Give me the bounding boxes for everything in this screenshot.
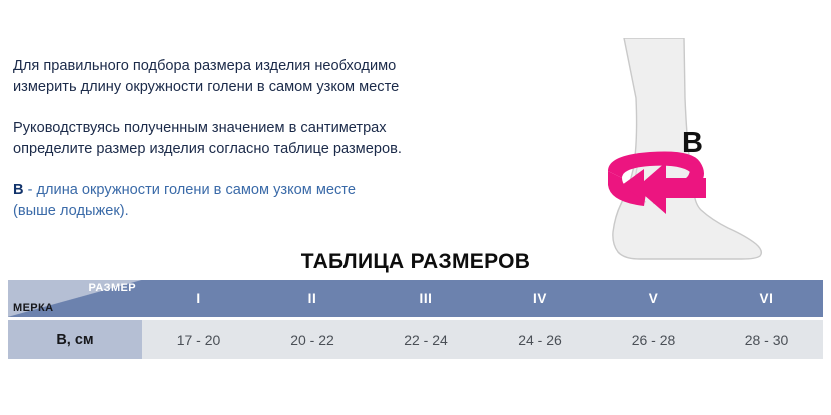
corner-size-label: РАЗМЕР [89,282,136,294]
instruction-paragraph-1-line-2: измерить длину окружности голени в самом… [13,77,533,98]
table-row: В, см 17 - 20 20 - 22 22 - 24 24 - 26 26… [8,320,823,359]
instructions-text-block: Для правильного подбора размера изделия … [13,56,533,222]
instruction-paragraph-2-line-2: определите размер изделия согласно табли… [13,139,533,160]
cell-size-iii-value: 22 - 24 [369,320,483,359]
measurement-label-b: B [682,129,703,158]
instruction-paragraph-2: Руководствуясь полученным значением в са… [13,118,533,160]
instruction-paragraph-1: Для правильного подбора размера изделия … [13,56,533,98]
size-table: РАЗМЕР МЕРКА I II III IV V VI В, см 17 -… [8,280,823,359]
size-chart-page: Для правильного подбора размера изделия … [0,0,831,415]
corner-measure-label: МЕРКА [13,302,54,314]
cell-size-vi-value: 28 - 30 [710,320,823,359]
size-table-header-row: РАЗМЕР МЕРКА I II III IV V VI [8,280,823,317]
row-label-circumference: В, см [8,320,142,359]
header-size-i: I [142,280,255,317]
instruction-paragraph-2-line-1: Руководствуясь полученным значением в са… [13,118,533,139]
measurement-marker-b: В [13,182,24,198]
header-size-iii: III [369,280,483,317]
cell-size-v-value: 26 - 28 [597,320,710,359]
header-size-iv: IV [483,280,597,317]
instruction-paragraph-1-line-1: Для правильного подбора размера изделия … [13,56,533,77]
size-table-title: ТАБЛИЦА РАЗМЕРОВ [0,250,831,274]
header-size-vi: VI [710,280,823,317]
header-corner-cell: РАЗМЕР МЕРКА [8,280,142,317]
measurement-definition-line-2: (выше лодыжек). [13,201,533,222]
cell-size-iv-value: 24 - 26 [483,320,597,359]
measurement-definition: В - длина окружности голени в самом узко… [13,180,533,222]
cell-size-ii-value: 20 - 22 [255,320,369,359]
cell-size-i-value: 17 - 20 [142,320,255,359]
header-size-v: V [597,280,710,317]
measurement-definition-text: - длина окружности голени в самом узком … [24,182,356,198]
measurement-definition-line-1: В - длина окружности голени в самом узко… [13,180,533,201]
header-size-ii: II [255,280,369,317]
